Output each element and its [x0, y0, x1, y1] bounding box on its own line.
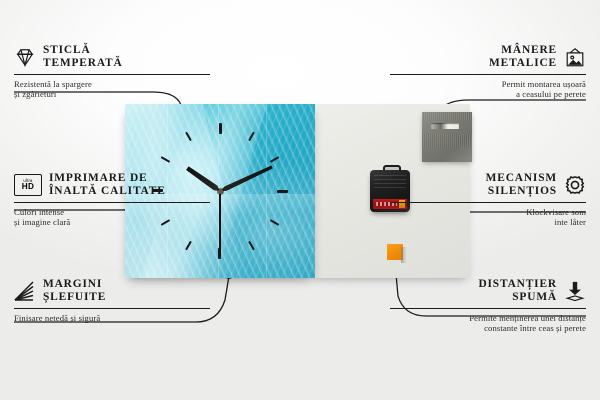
- divider: [14, 74, 210, 75]
- second-hand: [219, 191, 221, 253]
- callout-subtitle-line1: Finisare netedă și sigură: [14, 313, 100, 323]
- callout-sticla-temperata: STICLĂTEMPERATĂ Rezistentă la spargereși…: [14, 44, 210, 100]
- diamond-icon: [14, 46, 36, 68]
- callout-subtitle-line1: Rezistentă la spargere: [14, 79, 92, 89]
- callout-subtitle-line2: și imagine clară: [14, 217, 70, 227]
- divider: [14, 308, 210, 309]
- ultra-hd-big-text: HD: [22, 183, 34, 191]
- callout-imprimare-hd: ultra HD IMPRIMARE DEÎNALTĂ CALITATE Cul…: [14, 172, 210, 228]
- callout-title-line1: STICLĂ: [43, 44, 91, 56]
- callout-title-line1: MÂNERE: [501, 44, 557, 56]
- callout-title-line2: ÎNALTĂ CALITATE: [49, 185, 166, 197]
- callout-subtitle-line1: Permit montarea ușoară: [502, 79, 586, 89]
- metal-hanger-plate: [422, 112, 472, 162]
- callout-subtitle-line2: constante între ceas și perete: [484, 323, 586, 333]
- divider: [390, 202, 586, 203]
- callout-subtitle-line1: Culori intense: [14, 207, 64, 217]
- callout-title-line1: IMPRIMARE DE: [49, 172, 147, 184]
- callout-mecanism-silentios: MECANISMSILENȚIOS Klockvisare sominte lå…: [390, 172, 586, 228]
- callout-title-line2: ȘLEFUITE: [43, 291, 106, 303]
- callout-margini-slefuite: MARGINIȘLEFUITE Finisare netedă și sigur…: [14, 278, 210, 323]
- down-arrow-layer-icon: [564, 280, 586, 302]
- callout-title-line2: SPUMĂ: [512, 291, 557, 303]
- wall-hanger-frame-icon: [564, 46, 586, 68]
- hand-cap: [218, 189, 223, 194]
- divider: [14, 202, 210, 203]
- foam-spacer: [387, 244, 403, 260]
- callout-title-line2: SILENȚIOS: [488, 185, 557, 197]
- callout-distantier-spuma: DISTANȚIERSPUMĂ Permite menținerea unei …: [390, 278, 586, 334]
- divider: [390, 74, 586, 75]
- callout-title-line1: MECANISM: [486, 172, 557, 184]
- callout-title-line2: TEMPERATĂ: [43, 57, 123, 69]
- gear-icon: [564, 174, 586, 196]
- infographic-canvas: STICLĂTEMPERATĂ Rezistentă la spargereși…: [0, 0, 600, 400]
- callout-subtitle-line1: Permite menținerea unei distanțe: [469, 313, 586, 323]
- callout-subtitle-line2: a ceasului pe perete: [516, 89, 586, 99]
- callout-subtitle-line2: inte låter: [554, 217, 586, 227]
- callout-subtitle-line1: Klockvisare som: [526, 207, 586, 217]
- callout-title-line2: METALICE: [489, 57, 557, 69]
- callout-title-line1: MARGINI: [43, 278, 102, 290]
- callout-manere-metalice: MÂNEREMETALICE Permit montarea ușoarăa c…: [390, 44, 586, 100]
- callout-title-line1: DISTANȚIER: [478, 278, 557, 290]
- callout-subtitle-line2: și zgârieturi: [14, 89, 56, 99]
- divider: [390, 308, 586, 309]
- ultra-hd-icon: ultra HD: [14, 174, 42, 196]
- hanger-slot: [431, 123, 459, 129]
- beveled-edge-icon: [14, 280, 36, 302]
